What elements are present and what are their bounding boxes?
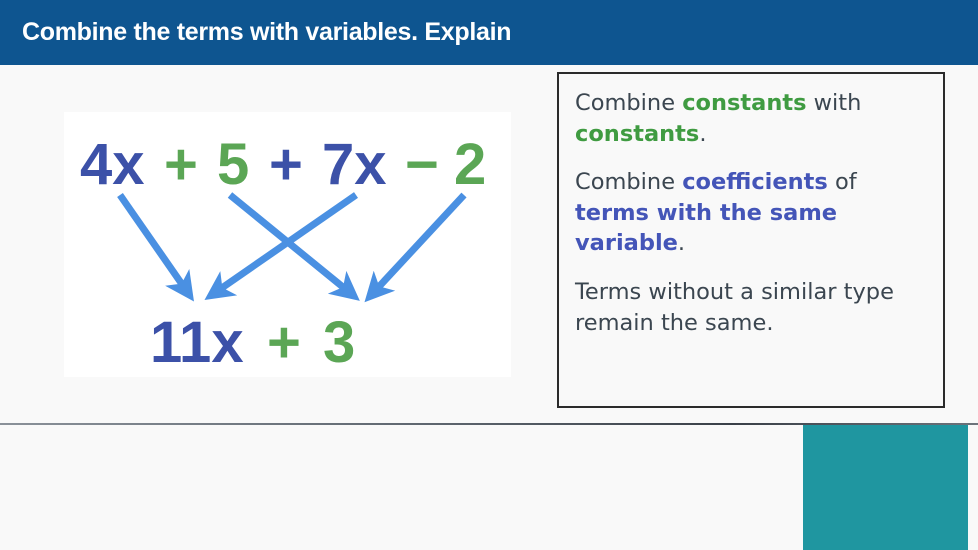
highlight-coefficients: coefficients <box>682 169 828 195</box>
footer-accent-block <box>803 425 968 550</box>
arrow-2-to-3 <box>374 195 464 292</box>
text-segment: with <box>807 90 862 116</box>
highlight-constants-2: constants <box>575 121 699 147</box>
expression-term-5: 5 <box>217 132 249 197</box>
explanation-paragraph-remainder: Terms without a similar type remain the … <box>575 277 927 338</box>
text-segment: Combine <box>575 169 682 195</box>
expression-term-2: 2 <box>454 132 486 197</box>
text-segment: . <box>678 230 685 256</box>
page-title: Combine the terms with variables. Explai… <box>0 18 511 47</box>
slide-header-bar: Combine the terms with variables. Explai… <box>0 0 978 65</box>
text-segment: Terms without a similar type remain the … <box>575 279 894 336</box>
diagram-canvas: 4x + 5 + 7x − 2 11x + 3 <box>64 112 511 377</box>
text-segment: of <box>828 169 857 195</box>
expression-term-7x: 7x <box>322 132 387 197</box>
highlight-same-variable: terms with the same variable <box>575 200 837 257</box>
expression-term-4x: 4x <box>80 132 145 197</box>
expression-operator-minus: − <box>405 132 439 197</box>
arrow-4x-to-11x <box>120 195 186 290</box>
expression-operator-plus-1: + <box>164 132 198 197</box>
result-operator-plus: + <box>267 310 301 375</box>
explanation-box: Combine constants with constants. Combin… <box>557 72 945 408</box>
result-term-11x: 11x <box>150 310 244 375</box>
explanation-paragraph-constants: Combine constants with constants. <box>575 88 927 149</box>
result-term-3: 3 <box>323 310 355 375</box>
explanation-paragraph-coefficients: Combine coefficients of terms with the s… <box>575 167 927 259</box>
text-segment: . <box>699 121 706 147</box>
slide-content-area: 4x + 5 + 7x − 2 11x + 3 Combine constant… <box>0 65 978 423</box>
combine-like-terms-diagram: 4x + 5 + 7x − 2 11x + 3 <box>64 112 511 377</box>
expression-operator-plus-2: + <box>269 132 303 197</box>
text-segment: Combine <box>575 90 682 116</box>
highlight-constants-1: constants <box>682 90 806 116</box>
